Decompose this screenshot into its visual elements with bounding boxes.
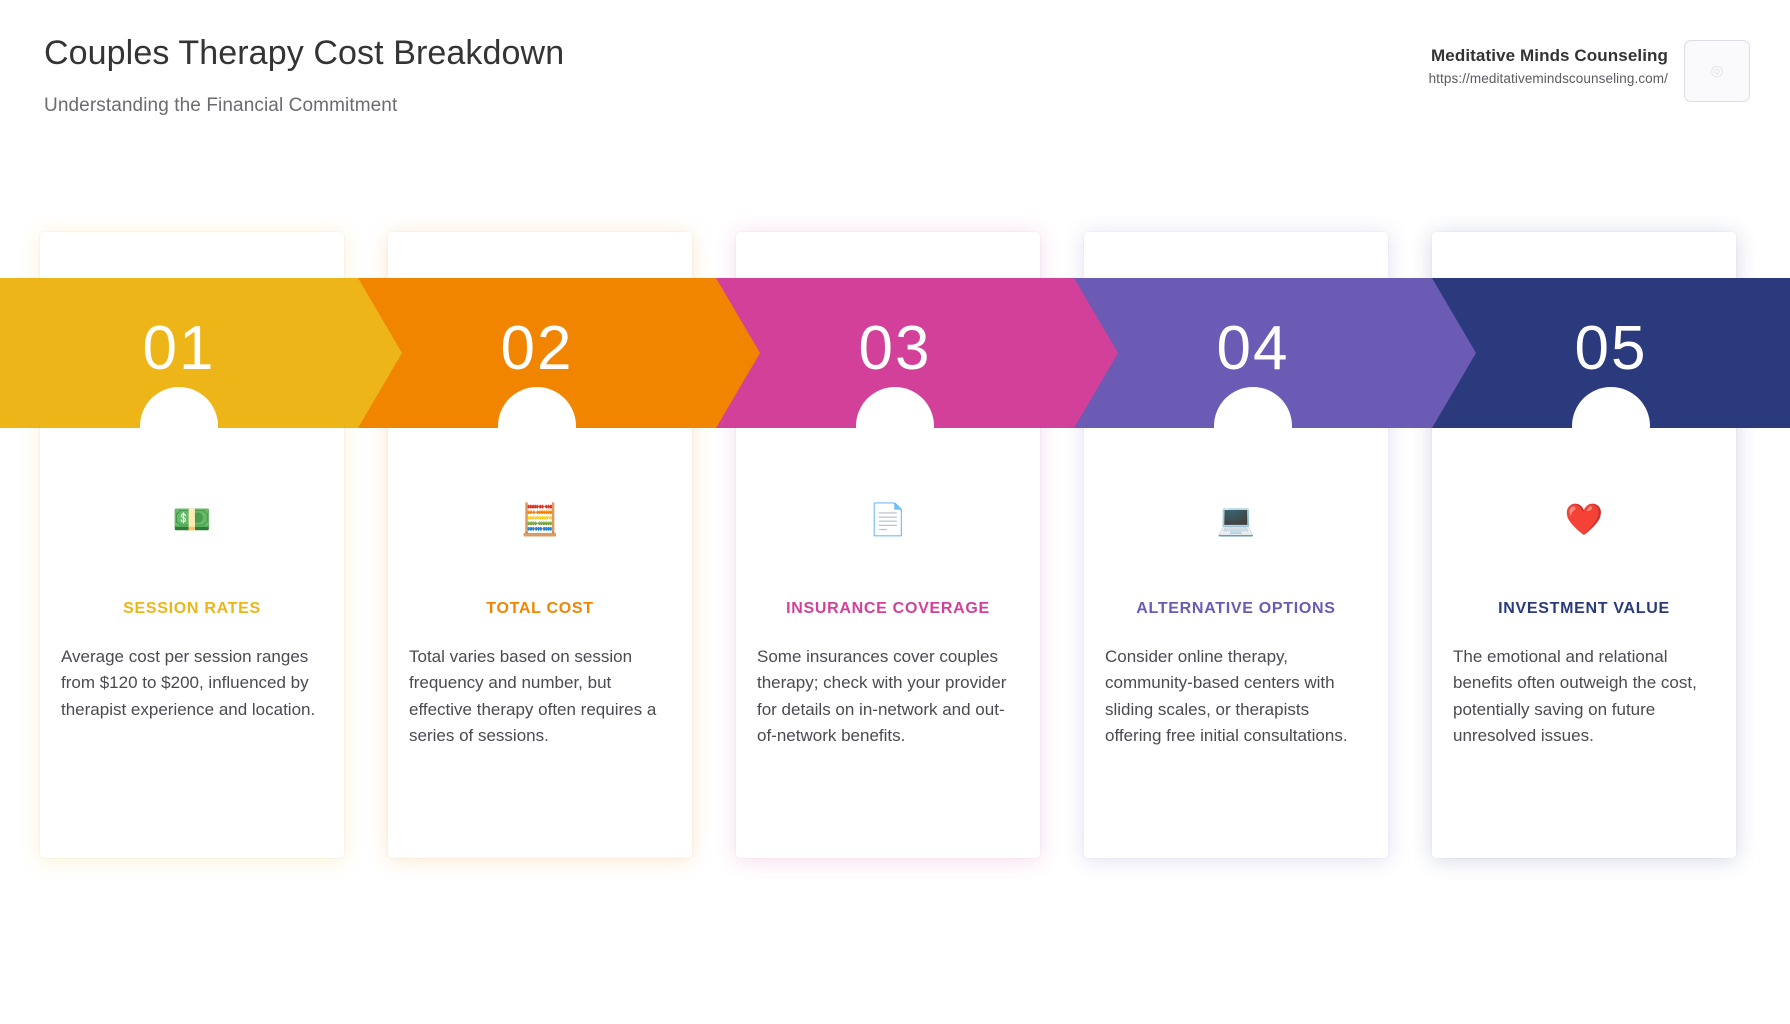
heart-icon: ❤️ <box>1452 500 1716 540</box>
step-card-label: SESSION RATES <box>60 600 324 618</box>
step-card-content: 💵SESSION RATESAverage cost per session r… <box>40 500 344 723</box>
document-icon: 📄 <box>756 500 1020 540</box>
brand-text: Meditative Minds Counseling https://medi… <box>1429 40 1668 86</box>
step-card-content: 📄INSURANCE COVERAGESome insurances cover… <box>736 500 1040 749</box>
step-card-body: Consider online therapy, community-based… <box>1104 644 1368 749</box>
step-card-body: The emotional and relational benefits of… <box>1452 644 1716 749</box>
brand-block: Meditative Minds Counseling https://medi… <box>1429 40 1750 102</box>
step-card-body: Total varies based on session frequency … <box>408 644 672 749</box>
step-card-body: Some insurances cover couples therapy; c… <box>756 644 1020 749</box>
step-card[interactable]: 💻ALTERNATIVE OPTIONSConsider online ther… <box>1084 232 1388 858</box>
step-card-label: INVESTMENT VALUE <box>1452 600 1716 618</box>
brand-logo: ◎ <box>1684 40 1750 102</box>
step-card-label: TOTAL COST <box>408 600 672 618</box>
step-card-label: ALTERNATIVE OPTIONS <box>1104 600 1368 618</box>
step-card-content: 🧮TOTAL COSTTotal varies based on session… <box>388 500 692 749</box>
step-card-body: Average cost per session ranges from $12… <box>60 644 324 723</box>
abacus-icon: 🧮 <box>408 500 672 540</box>
header: Couples Therapy Cost Breakdown Understan… <box>0 0 1790 200</box>
logo-placeholder-icon: ◎ <box>1710 64 1723 79</box>
steps-card-strip: 💵SESSION RATESAverage cost per session r… <box>40 232 1750 858</box>
brand-url[interactable]: https://meditativemindscounseling.com/ <box>1429 71 1668 86</box>
page-subtitle: Understanding the Financial Commitment <box>44 95 664 117</box>
page-title: Couples Therapy Cost Breakdown <box>44 30 664 77</box>
step-card-content: ❤️INVESTMENT VALUEThe emotional and rela… <box>1432 500 1736 749</box>
brand-name: Meditative Minds Counseling <box>1429 46 1668 66</box>
step-card-label: INSURANCE COVERAGE <box>756 600 1020 618</box>
step-card-content: 💻ALTERNATIVE OPTIONSConsider online ther… <box>1084 500 1388 749</box>
step-card[interactable]: 📄INSURANCE COVERAGESome insurances cover… <box>736 232 1040 858</box>
infographic-page: Couples Therapy Cost Breakdown Understan… <box>0 0 1790 1024</box>
banknote-icon: 💵 <box>60 500 324 540</box>
step-card[interactable]: 💵SESSION RATESAverage cost per session r… <box>40 232 344 858</box>
step-card[interactable]: ❤️INVESTMENT VALUEThe emotional and rela… <box>1432 232 1736 858</box>
laptop-icon: 💻 <box>1104 500 1368 540</box>
title-block: Couples Therapy Cost Breakdown Understan… <box>44 30 664 117</box>
step-card[interactable]: 🧮TOTAL COSTTotal varies based on session… <box>388 232 692 858</box>
